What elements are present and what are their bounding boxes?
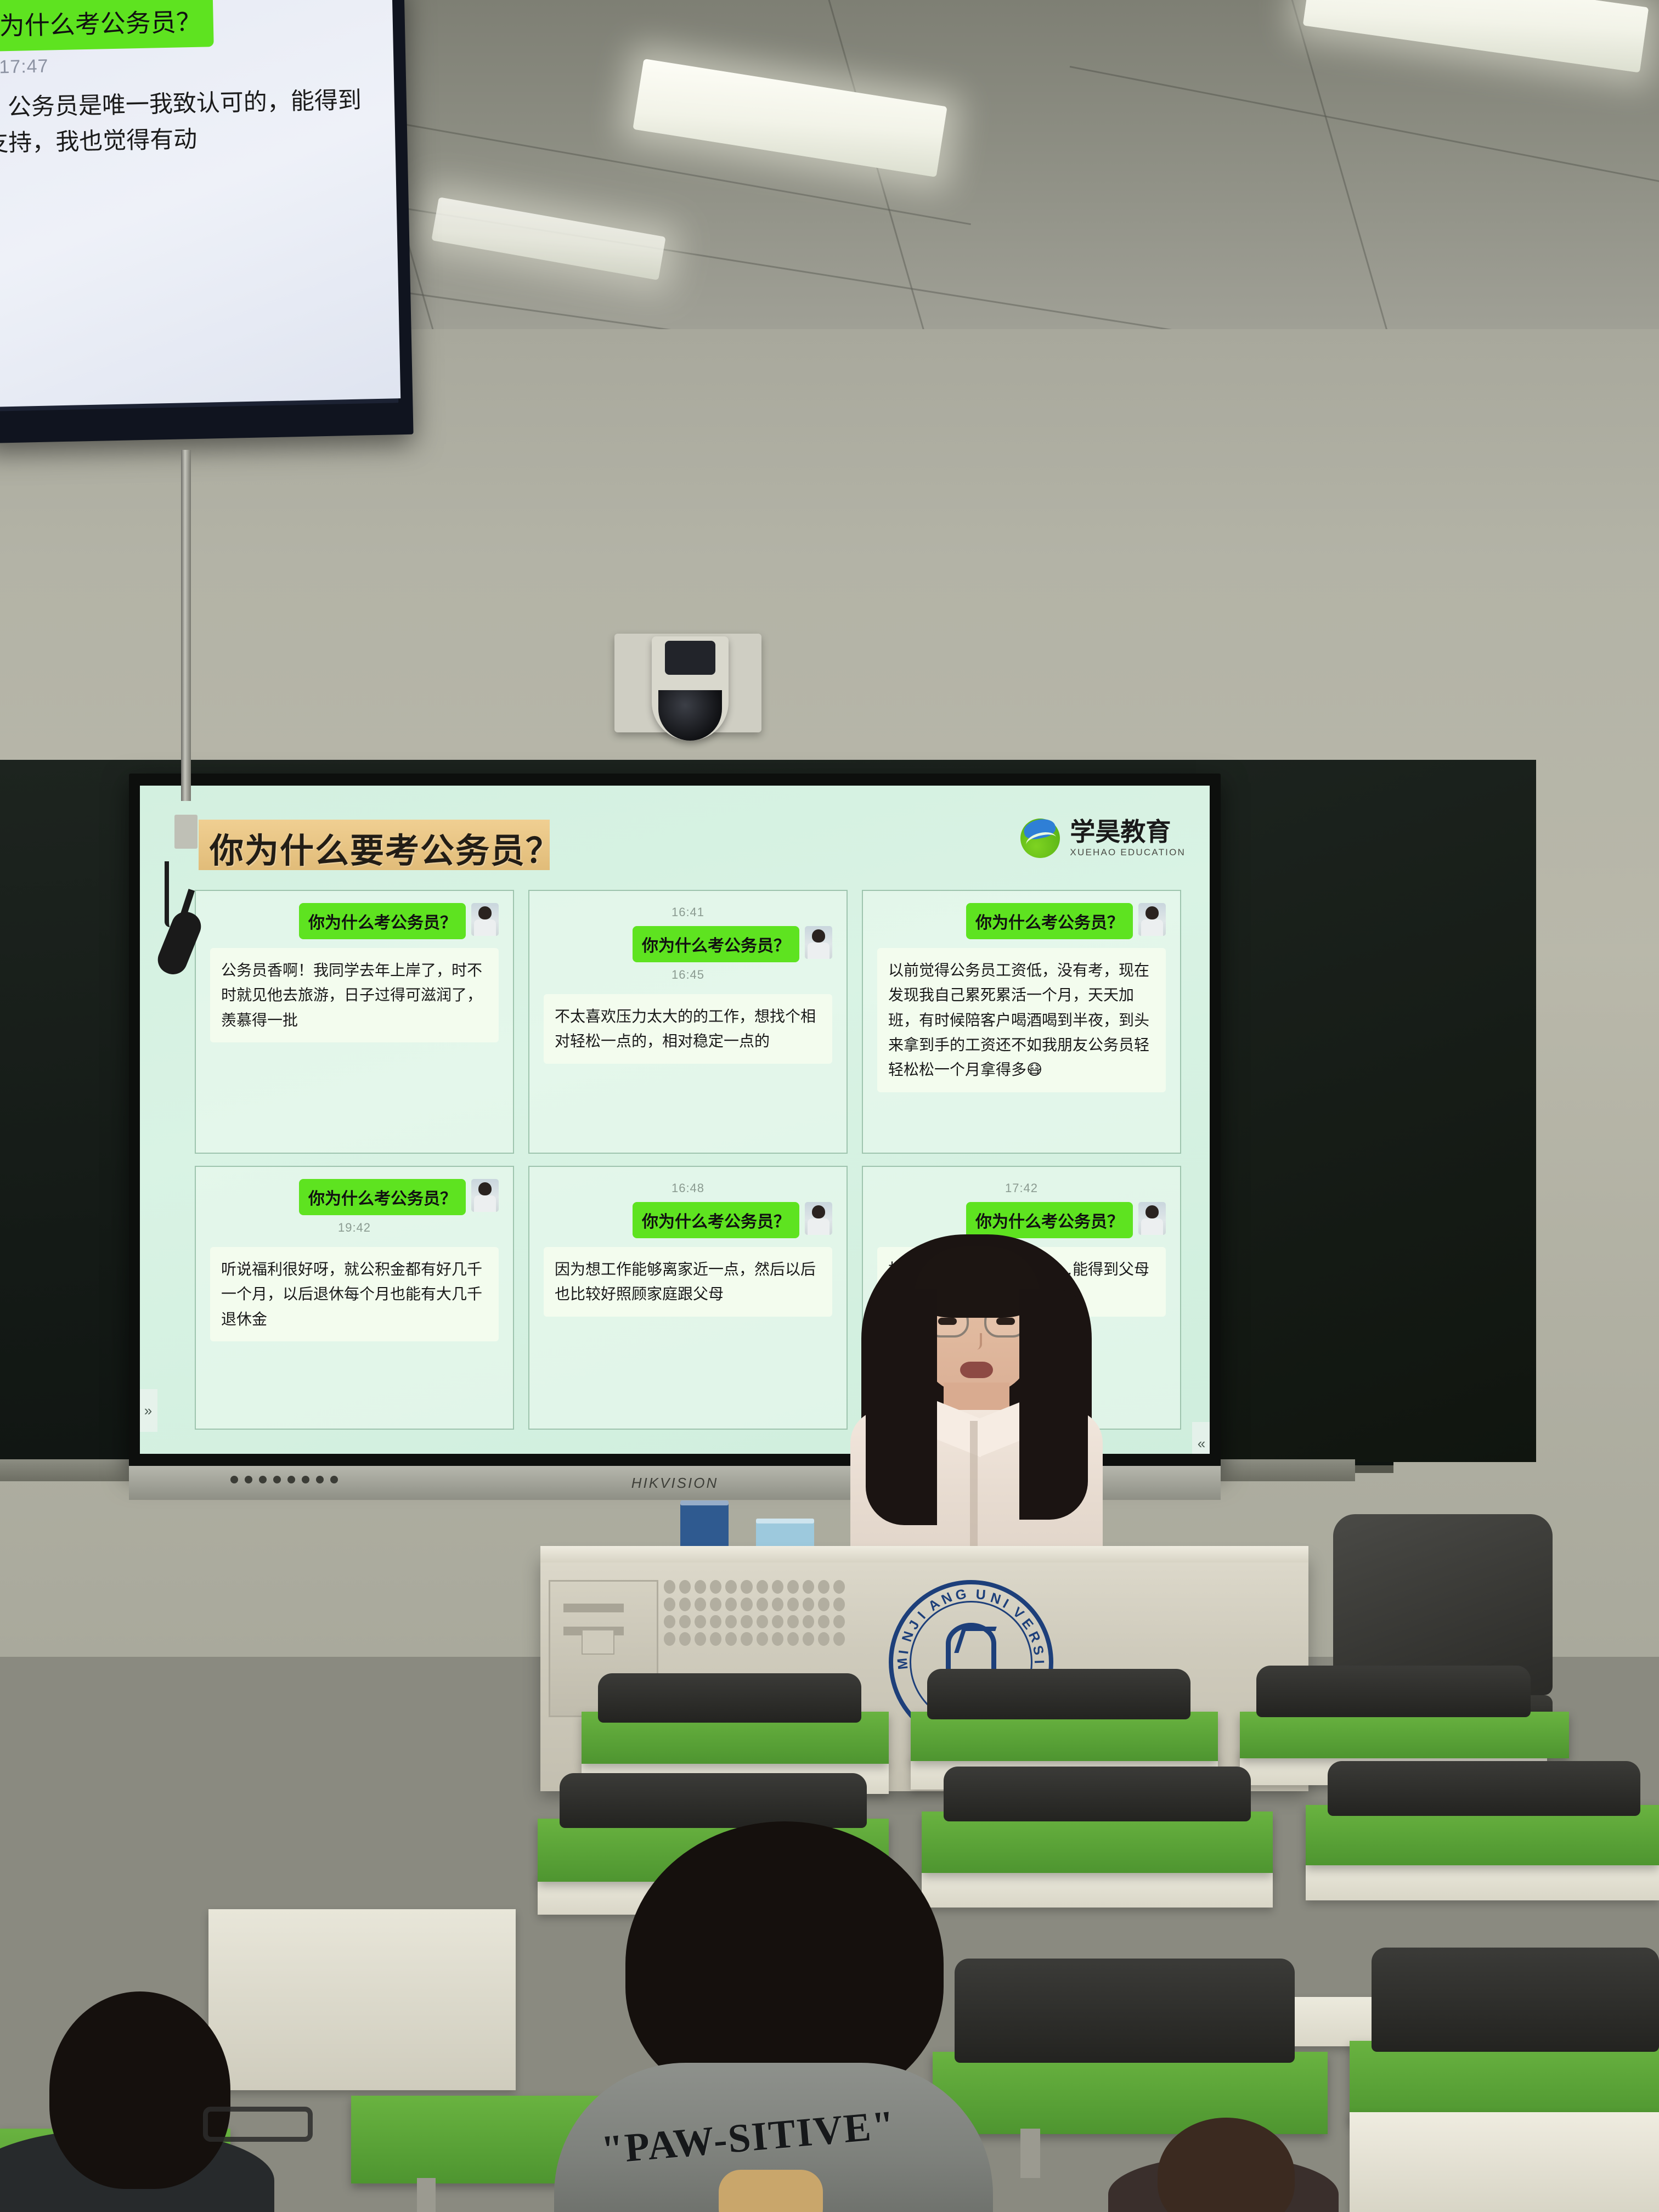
seat-back [955, 1959, 1295, 2063]
answer-bubble: 听说福利很好呀，就公积金都有好几千一个月，以后退休每个月也能有大几千退休金 [210, 1247, 499, 1341]
presenter-hair-right [1019, 1289, 1088, 1520]
answer-bubble: 因为想工作能够离家近一点，然后以后也比较好照顾家庭跟父母 [544, 1247, 832, 1317]
seat-back [944, 1767, 1251, 1821]
blackboard-right-panel [1196, 760, 1536, 1462]
answer-bubble: 不太喜欢压力太大的的工作，想找个相对轻松一点的，相对稳定一点的 [544, 994, 832, 1064]
presenter-hair-left [866, 1289, 937, 1525]
chat-timestamp: 19:42 [210, 1221, 499, 1235]
question-row: 你为什么考公务员？ [210, 903, 499, 939]
pole-bracket [174, 815, 198, 849]
seat-back [1256, 1666, 1531, 1717]
desk-row [208, 1909, 516, 2090]
answer-bubble: 公务员香啊！我同学去年上岸了，时不时就见他去旅游，日子过得可滋润了，羨慕得一批 [210, 948, 499, 1042]
chat-card: 你为什么考公务员？ 19:42 听说福利很好呀，就公积金都有好几千一个月，以后退… [195, 1166, 514, 1430]
question-row: 你为什么考公务员？ [210, 1179, 499, 1215]
audience-glasses-icon [203, 2107, 313, 2142]
avatar [805, 926, 832, 959]
question-bubble: 你为什么考公务员？ [633, 1202, 799, 1238]
chat-card: 16:41 你为什么考公务员？ 16:45 不太喜欢压力太大的的工作，想找个相对… [528, 890, 848, 1154]
desk-row [922, 1868, 1273, 1908]
presenter-eye-left [938, 1318, 957, 1325]
question-row: 你为什么考公务员？ [544, 926, 832, 962]
question-bubble: 你为什么考公务员？ [966, 903, 1133, 939]
podium-top-surface [540, 1546, 1308, 1562]
seat-back [927, 1669, 1190, 1719]
avatar [805, 1202, 832, 1235]
monitor-screen: 你为什么考公务员？ 17:47 择，公务员是唯一我致认可的，能得到父支持，我也觉… [0, 0, 400, 407]
seat[interactable] [1350, 2041, 1659, 2123]
presenter-nose [972, 1333, 982, 1350]
avatar [1138, 1202, 1166, 1235]
chat-card: 你为什么考公务员？ 以前觉得公务员工资低，没有考，现在发现我自己累死累活一个月，… [862, 890, 1181, 1154]
seat-leg [1020, 2129, 1040, 2178]
seat-back [1328, 1761, 1640, 1816]
confidence-monitor: 你为什么考公务员？ 17:47 择，公务员是唯一我致认可的，能得到父支持，我也觉… [0, 0, 414, 443]
question-row: 你为什么考公务员？ [544, 1202, 832, 1238]
cat-graphic-icon [719, 2170, 823, 2212]
desk-row [1350, 2112, 1659, 2212]
seat-back [1372, 1948, 1659, 2052]
board-brand-label: HIKVISION [631, 1475, 718, 1492]
brand-name-en: XUEHAO EDUCATION [1070, 847, 1186, 858]
microphone-cable [165, 861, 170, 927]
avatar [1138, 903, 1166, 936]
monitor-answer-text: 择，公务员是唯一我致认可的，能得到父支持，我也觉得有动 [0, 82, 383, 163]
chat-timestamp: 16:48 [544, 1181, 832, 1195]
chat-timestamp: 16:41 [544, 905, 832, 919]
screen-pull-down-pole [181, 450, 191, 801]
avatar [471, 1179, 499, 1212]
presenter-mouth [960, 1362, 993, 1378]
question-bubble: 你为什么考公务员？ [299, 903, 466, 939]
classroom-photo-scene: 你为什么考公务员？ 17:47 择，公务员是唯一我致认可的，能得到父支持，我也觉… [0, 0, 1659, 2212]
presenter [845, 1223, 1108, 1575]
seat-leg [417, 2178, 436, 2212]
answer-bubble: 以前觉得公务员工资低，没有考，现在发现我自己累死累活一个月，天天加班，有时候陪客… [877, 948, 1166, 1092]
brand-logo: 学昊教育 XUEHAO EDUCATION [1018, 816, 1186, 860]
camera-lens-upper [665, 641, 715, 675]
seat[interactable] [1240, 1712, 1569, 1758]
chat-card: 你为什么考公务员？ 公务员香啊！我同学去年上岸了，时不时就见他去旅游，日子过得可… [195, 890, 514, 1154]
chat-timestamp: 17:42 [877, 1181, 1166, 1195]
seat-back [598, 1673, 861, 1723]
seat-back [560, 1773, 867, 1828]
chat-card: 16:48 你为什么考公务员？ 因为想工作能够离家近一点，然后以后也比较好照顾家… [528, 1166, 848, 1430]
audience-head [49, 1991, 230, 2189]
monitor-timestamp: 17:47 [0, 49, 382, 78]
question-bubble: 你为什么考公务员？ [299, 1179, 466, 1215]
desk-row [1306, 1860, 1659, 1900]
board-next-arrow[interactable]: « [1192, 1422, 1210, 1454]
brand-name-cn: 学昊教育 [1070, 819, 1186, 844]
podium-speaker-grille [664, 1580, 845, 1646]
board-prev-arrow[interactable]: » [140, 1389, 157, 1432]
slide-title: 你为什么要考公务员？ [210, 823, 561, 872]
monitor-question-bubble: 你为什么考公务员？ [0, 0, 214, 52]
board-port-row[interactable] [230, 1476, 338, 1483]
seat[interactable] [933, 2052, 1328, 2134]
presenter-eye-right [996, 1318, 1015, 1325]
chat-timestamp-second: 16:45 [544, 968, 832, 982]
question-row: 你为什么考公务员？ [877, 903, 1166, 939]
podium-port-slot[interactable] [582, 1629, 614, 1655]
leaf-globe-icon [1018, 816, 1062, 860]
avatar [471, 903, 499, 936]
question-bubble: 你为什么考公务员？ [633, 926, 799, 962]
